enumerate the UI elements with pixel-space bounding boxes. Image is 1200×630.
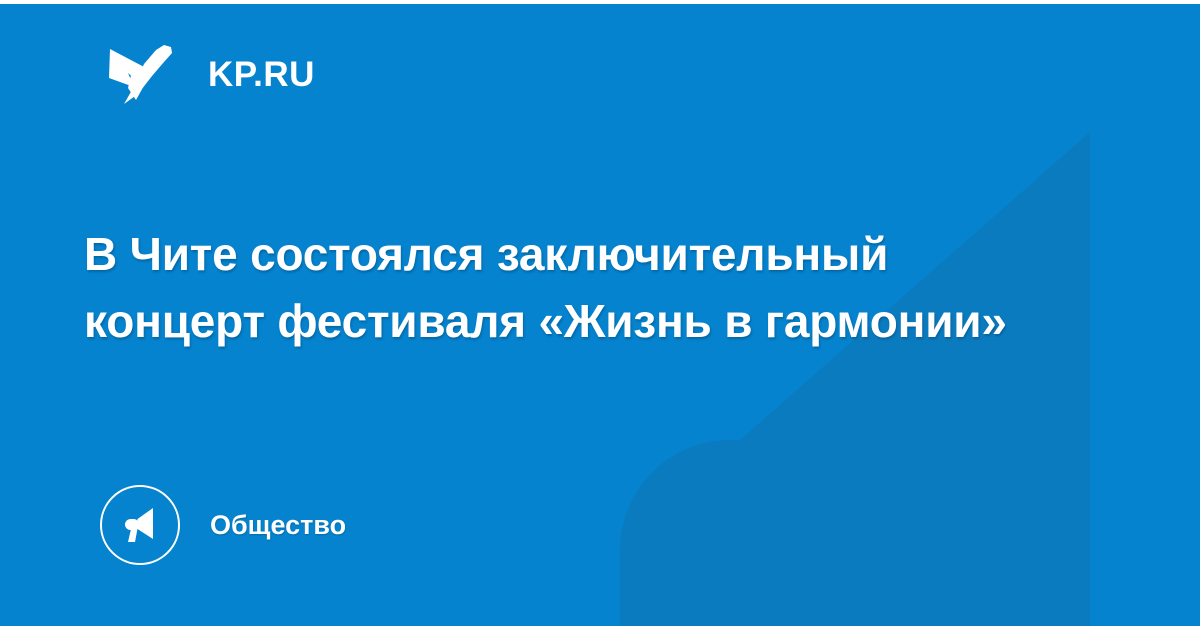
social-share-card: KP.RU В Чите состоялся заключительный ко… [0,0,1200,630]
category-badge[interactable]: Общество [100,482,346,568]
page-title: В Чите состоялся заключительный концерт … [84,221,1064,356]
brand-logo[interactable]: KP.RU [108,42,315,106]
category-icon-circle [100,485,180,565]
card-canvas: KP.RU В Чите состоялся заключительный ко… [0,4,1200,626]
brand-wordmark: KP.RU [208,57,315,92]
swallow-bird-icon [108,42,174,106]
category-label: Общество [210,512,346,539]
megaphone-icon [118,503,162,547]
